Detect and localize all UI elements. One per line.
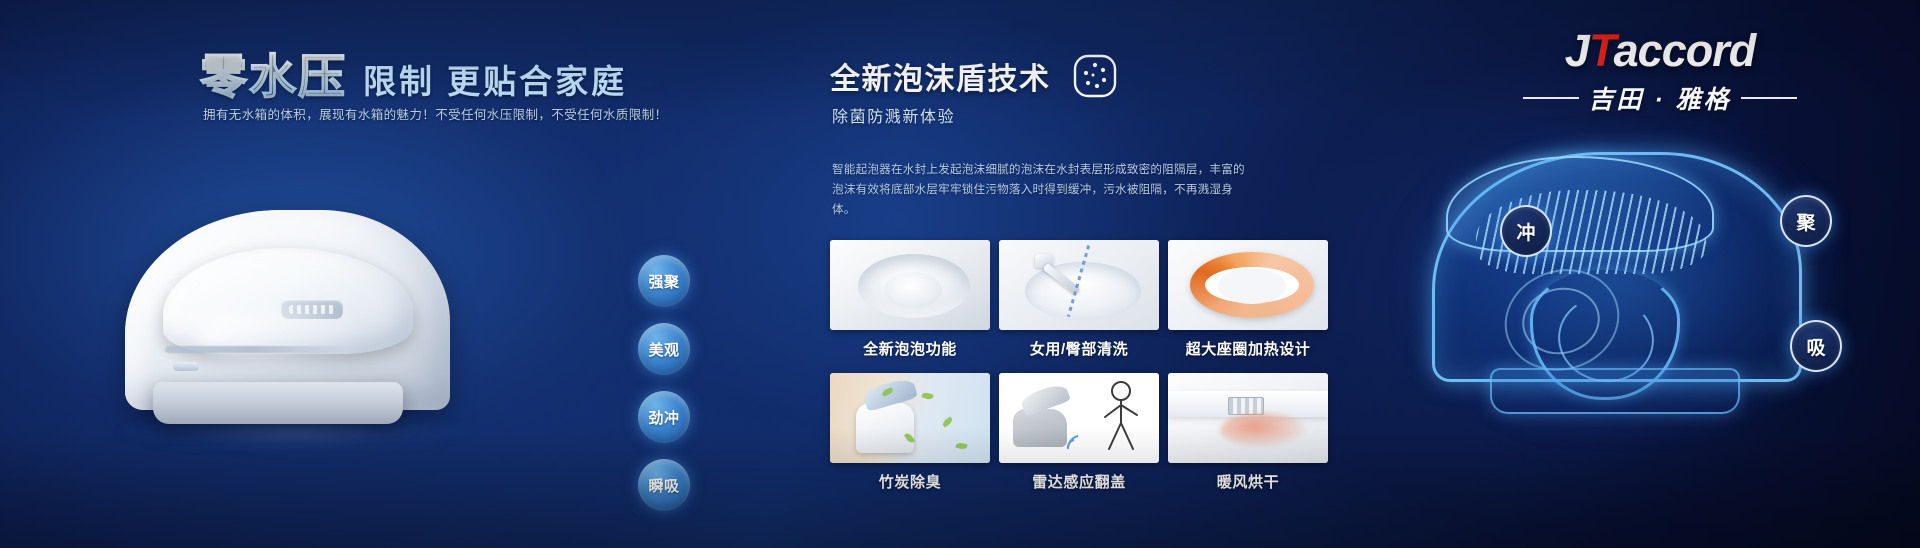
badge-label: 强聚 [648,271,679,292]
feature-label: 女用/臀部清洗 [999,330,1159,368]
smart-toilet-product-image [95,130,495,460]
headline-sub: 限制 更贴合家庭 [363,55,627,108]
toilet-bowl-foam-thumb [830,240,990,330]
warm-air-glow [1220,413,1306,447]
badge-label: 冲 [1516,218,1535,245]
feature-cell[interactable]: 暖风烘干 [1168,373,1328,501]
badge-label: 聚 [1796,208,1815,235]
side-button-icon [173,362,199,371]
headline-main: 零水压 [200,38,347,108]
logo-t-accent: T [1589,25,1614,76]
badge-jingchong[interactable]: 劲冲 [638,391,690,443]
logo-rule-left [1523,97,1579,99]
right-panel: JTaccord 吉田 · 雅格 冲 聚 吸 [1320,0,1920,548]
radar-sensor-lid-thumb [999,373,1159,463]
feature-cell[interactable]: 女用/臀部清洗 [999,240,1159,368]
washing-wand-thumb [999,240,1159,330]
heated-seat-ring-thumb [1168,240,1328,330]
warm-air-dry-thumb [1168,373,1328,463]
badge-meiguan[interactable]: 美观 [638,323,690,375]
badge-ju[interactable]: 聚 [1780,195,1832,247]
feature-grid: 全新泡泡功能 女用/臀部清洗 [830,240,1328,501]
middle-panel: 全新泡沫盾技术 除菌防溅新体验 智能起泡器在水封上发起泡沫细腻的泡沫在水封表层形… [820,0,1320,548]
middle-subtitle: 除菌防溅新体验 [832,103,955,127]
headline-row: 零水压 限制 更贴合家庭 [200,38,627,108]
xray-base [1490,368,1740,414]
ring-hole [1218,268,1286,304]
feature-label: 竹炭除臭 [830,463,990,501]
logo-accord: accord [1614,25,1756,76]
badge-label: 美观 [648,339,679,360]
radar-illustration [999,373,1159,463]
brand-wordmark: JTaccord [1495,28,1825,73]
toilet-shape [856,403,914,453]
feature-cell[interactable]: 全新泡泡功能 [830,240,990,368]
bubble-shield-icon [1071,52,1119,100]
feature-label: 暖风烘干 [1168,463,1328,501]
badge-qiangju[interactable]: 强聚 [638,255,690,307]
feature-cell[interactable]: 雷达感应翻盖 [999,373,1159,501]
product-banner: 零水压 限制 更贴合家庭 拥有无水箱的体积，展现有水箱的魅力！不受任何水压限制，… [0,0,1920,548]
ring-illustration [1168,240,1328,330]
feature-cell[interactable]: 超大座圈加热设计 [1168,240,1328,368]
xray-toilet-cutaway: 冲 聚 吸 [1380,120,1870,450]
badge-chong[interactable]: 冲 [1500,205,1552,257]
middle-paragraph: 智能起泡器在水封上发起泡沫细腻的泡沫在水封表层形成致密的阻隔层，丰富的泡沫有效将… [832,160,1252,220]
bowl-illustration [830,240,990,330]
dryer-illustration [1168,373,1328,463]
toilet-base [153,382,403,424]
feature-label: 全新泡泡功能 [830,330,990,368]
middle-heading-row: 全新泡沫盾技术 [830,52,1119,100]
leaf-icon [921,391,933,400]
toilet-seam [165,346,345,353]
left-panel: 零水压 限制 更贴合家庭 拥有无水箱的体积，展现有水箱的魅力！不受任何水压限制，… [0,0,640,548]
leaf-icon [941,416,953,427]
brand-chinese-name: 吉田 · 雅格 [1588,80,1731,116]
brand-logo[interactable]: JTaccord 吉田 · 雅格 [1495,28,1825,116]
toilet-body [125,210,450,410]
wash-illustration [999,240,1159,330]
badge-xi[interactable]: 吸 [1790,320,1842,372]
badge-label: 吸 [1806,333,1825,360]
middle-title: 全新泡沫盾技术 [830,54,1051,98]
feature-label: 超大座圈加热设计 [1168,330,1328,368]
badge-label: 瞬吸 [648,475,679,496]
brand-chinese-row: 吉田 · 雅格 [1495,80,1825,116]
logo-rule-right [1741,97,1797,99]
feature-label: 雷达感应翻盖 [999,463,1159,501]
logo-j: J [1565,25,1589,76]
left-feature-badges: 强聚 美观 劲冲 瞬吸 [638,255,710,527]
leaf-icon [955,442,967,451]
feature-cell[interactable]: 竹炭除臭 [830,373,990,501]
badge-label: 劲冲 [648,407,679,428]
badge-shunxi[interactable]: 瞬吸 [638,459,690,511]
bamboo-illustration [830,373,990,463]
walking-person-icon [1095,379,1147,457]
bamboo-charcoal-deodorize-thumb [830,373,990,463]
toilet-shape [1013,409,1067,447]
signal-wave-icon [1065,429,1091,455]
headline-description: 拥有无水箱的体积，展现有水箱的魅力！不受任何水压限制，不受任何水质限制！ [203,104,667,123]
